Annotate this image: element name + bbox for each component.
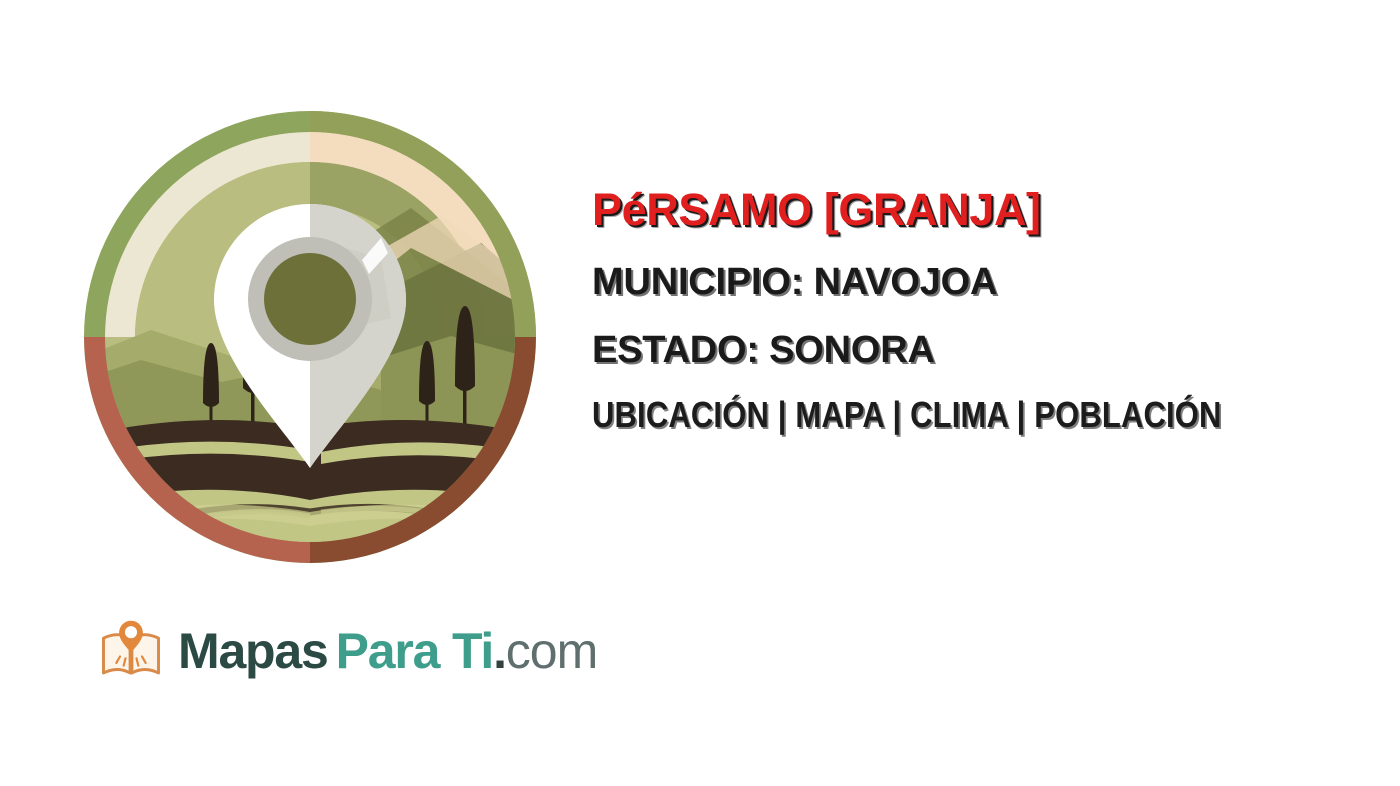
- estado-line: ESTADO: SONORA: [592, 316, 1392, 384]
- page-root: PéRSAMO [GRANJA] MUNICIPIO: NAVOJOA ESTA…: [0, 0, 1400, 786]
- brand-part-mapas: Mapas: [178, 623, 328, 679]
- section-links[interactable]: UBICACIÓN | MAPA | CLIMA | POBLACIÓN: [592, 384, 1280, 446]
- brand-dot: .: [493, 623, 506, 679]
- brand-wordmark: MapasPara Ti.com: [178, 626, 597, 676]
- brand-part-com: com: [506, 623, 597, 679]
- page-title: PéRSAMO [GRANJA]: [592, 182, 1392, 238]
- place-info: PéRSAMO [GRANJA] MUNICIPIO: NAVOJOA ESTA…: [592, 182, 1392, 446]
- brand-part-parati: Para Ti: [336, 623, 493, 679]
- municipio-line: MUNICIPIO: NAVOJOA: [592, 248, 1392, 316]
- farm-location-emblem-icon: [81, 108, 539, 566]
- open-book-pin-icon: [98, 618, 164, 684]
- brand-logo[interactable]: MapasPara Ti.com: [98, 618, 597, 684]
